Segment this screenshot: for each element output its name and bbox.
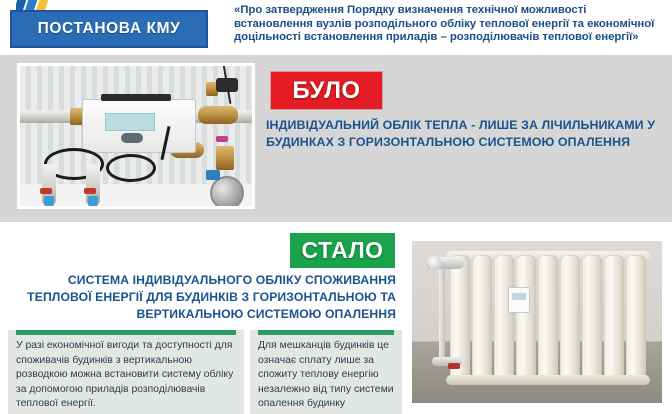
- radiator-red-handle: [448, 363, 460, 369]
- red-valve-handle-right: [84, 188, 96, 194]
- before-description: ІНДИВІДУАЛЬНИЙ ОБЛІК ТЕПЛА - ЛИШЕ ЗА ЛІЧ…: [266, 117, 666, 151]
- slide-canvas: ПОСТАНОВА КМУ «Про затвердження Порядку …: [0, 0, 672, 414]
- blue-fitting: [206, 170, 220, 180]
- radiator-fin: [626, 255, 646, 383]
- radiator-fin: [472, 255, 492, 383]
- note-card-1-text: У разі економічної вигоди та доступності…: [16, 339, 236, 412]
- radiator-valve-knob: [428, 256, 442, 270]
- note-card-2: Для мешканців будинків це означає сплату…: [250, 330, 402, 414]
- meter-lcd-display: [105, 113, 155, 131]
- radiator-photo: [409, 238, 665, 406]
- decree-badge-label: ПОСТАНОВА КМУ: [38, 20, 181, 38]
- allocator-display: [512, 293, 526, 300]
- note-card-2-text: Для мешканців будинків це означає сплату…: [258, 339, 394, 412]
- radiator-fin: [560, 255, 580, 383]
- note-card-2-rule: [258, 330, 394, 335]
- radiator-fin: [604, 255, 624, 383]
- radiator-fin: [538, 255, 558, 383]
- brass-fitting-right: [198, 106, 238, 124]
- decree-badge: ПОСТАНОВА КМУ: [10, 10, 208, 48]
- heat-meter-device: [82, 99, 196, 153]
- ukraine-flag-stripes-logo-icon: [16, 0, 60, 10]
- after-badge-label: СТАЛО: [301, 237, 383, 264]
- after-description: СИСТЕМА ІНДИВІДУАЛЬНОГО ОБЛІКУ СПОЖИВАНН…: [8, 272, 396, 323]
- radiator-fin: [494, 255, 514, 383]
- meter-top-strip: [101, 94, 171, 101]
- pressure-gauge: [210, 176, 244, 209]
- magenta-valve-handle: [216, 136, 228, 142]
- blue-tag-left: [44, 196, 54, 206]
- meter-button-cap: [121, 133, 143, 143]
- sensor-cable-loop-2: [106, 154, 156, 182]
- radiator-bottom-manifold: [446, 375, 650, 385]
- heat-cost-allocator-device: [508, 287, 530, 313]
- logo-stripe-3: [36, 0, 49, 10]
- decree-title-text: «Про затвердження Порядку визначення тех…: [234, 4, 662, 45]
- before-badge: БУЛО: [270, 71, 383, 110]
- blue-tag-right: [88, 196, 98, 206]
- radiator-supply-pipe: [439, 269, 445, 361]
- radiator-fins: [450, 255, 646, 383]
- radiator-fin: [516, 255, 536, 383]
- heat-meter-photo: [17, 63, 255, 209]
- brass-valve-body: [216, 146, 234, 170]
- note-card-1: У разі економічної вигоди та доступності…: [8, 330, 244, 414]
- note-card-1-rule: [16, 330, 236, 335]
- red-valve-handle-left: [40, 188, 52, 194]
- before-badge-label: БУЛО: [292, 77, 360, 105]
- after-badge: СТАЛО: [290, 233, 395, 268]
- radiator-fin: [582, 255, 602, 383]
